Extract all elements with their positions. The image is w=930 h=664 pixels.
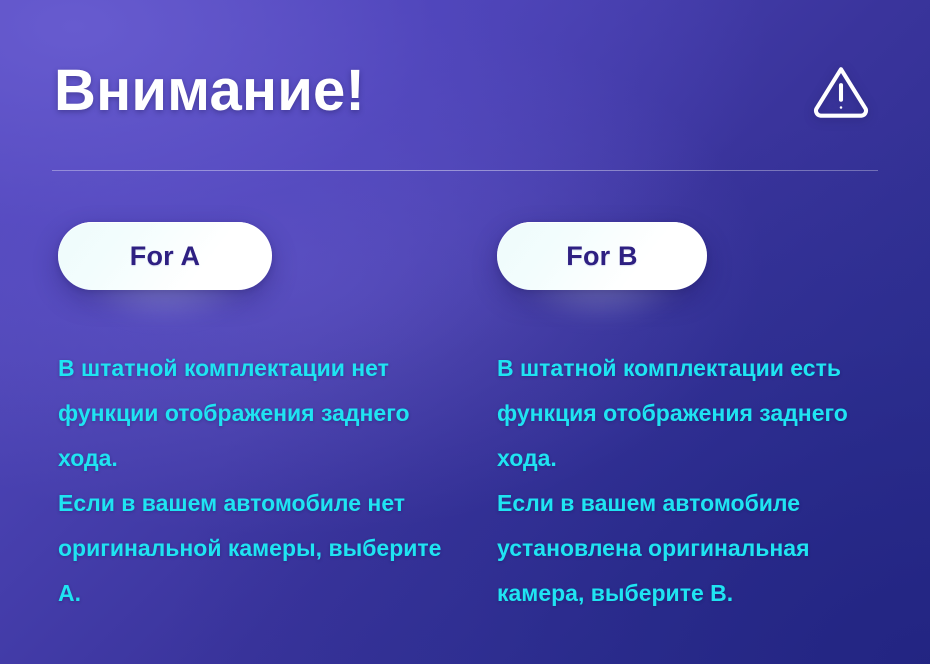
for-b-button-label: For B [566, 241, 638, 272]
option-a-paragraph-2: Если в вашем автомобиле нет оригинальной… [58, 481, 447, 616]
page-title: Внимание! [54, 61, 365, 122]
for-b-pill-wrap: For B [497, 222, 707, 290]
warning-slide: Внимание! For A В штатной комплектации н… [0, 0, 930, 664]
for-a-button[interactable]: For A [58, 222, 272, 290]
slide-header: Внимание! [54, 46, 876, 136]
warning-triangle-icon [810, 60, 872, 122]
for-a-pill-wrap: For A [58, 222, 272, 290]
header-divider [52, 170, 878, 171]
option-a-description: В штатной комплектации нет функции отобр… [58, 346, 447, 616]
option-column-a: For A В штатной комплектации нет функции… [0, 222, 465, 616]
option-b-paragraph-1: В штатной комплектации есть функция отоб… [497, 346, 889, 481]
for-a-button-label: For A [130, 241, 201, 272]
option-b-paragraph-2: Если в вашем автомобиле установлена ориг… [497, 481, 889, 616]
for-b-button[interactable]: For B [497, 222, 707, 290]
options-columns: For A В штатной комплектации нет функции… [0, 222, 930, 616]
option-column-b: For B В штатной комплектации есть функци… [465, 222, 930, 616]
option-b-description: В штатной комплектации есть функция отоб… [497, 346, 889, 616]
option-a-paragraph-1: В штатной комплектации нет функции отобр… [58, 346, 447, 481]
